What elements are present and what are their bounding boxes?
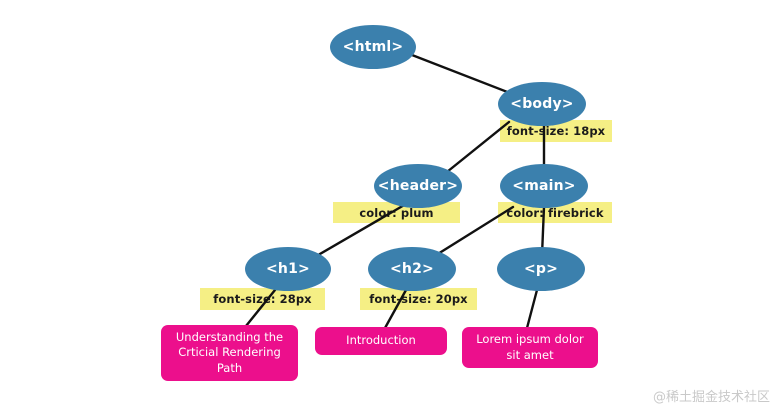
node-main[interactable]: <main> xyxy=(500,164,588,208)
node-html[interactable]: <html> xyxy=(330,25,416,69)
diagram-canvas: font-size: 18pxcolor: plumcolor: firebri… xyxy=(0,0,780,411)
node-h1[interactable]: <h1> xyxy=(245,247,331,291)
edge-h2-to-h2-text xyxy=(385,290,406,328)
leaf-box-h1[interactable]: Understanding the Crticial Rendering Pat… xyxy=(161,325,298,381)
leaf-box-p[interactable]: Lorem ipsum dolor sit amet xyxy=(462,327,598,368)
node-h2[interactable]: <h2> xyxy=(368,247,456,291)
node-body[interactable]: <body> xyxy=(498,82,586,126)
edge-h1-to-h1-text xyxy=(246,290,275,326)
node-header[interactable]: <header> xyxy=(374,164,462,208)
watermark: @稀土掘金技术社区 xyxy=(653,386,770,405)
leaf-box-h2[interactable]: Introduction xyxy=(315,327,447,355)
edge-p-to-p-text xyxy=(527,290,537,328)
node-p[interactable]: <p> xyxy=(497,247,585,291)
